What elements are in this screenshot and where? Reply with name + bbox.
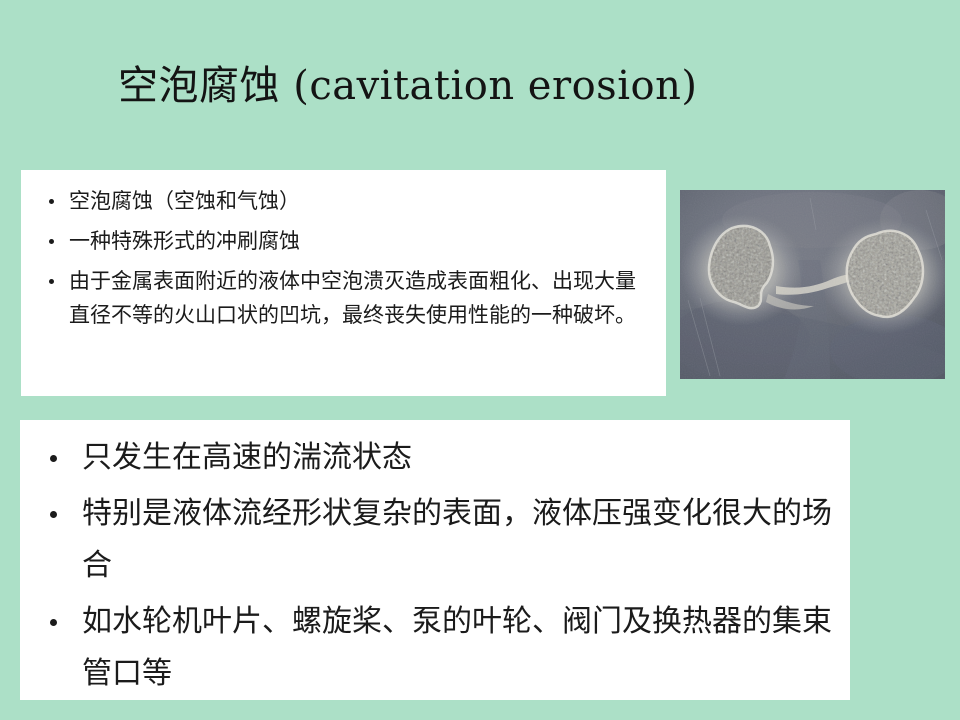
bullet-list-lower: 只发生在高速的湍流状态 特别是液体流经形状复杂的表面，液体压强变化很大的场合 如… xyxy=(34,432,834,700)
list-item: 特别是液体流经形状复杂的表面，液体压强变化很大的场合 xyxy=(34,488,834,592)
content-box-lower: 只发生在高速的湍流状态 特别是液体流经形状复杂的表面，液体压强变化很大的场合 如… xyxy=(20,420,850,700)
list-item: 由于金属表面附近的液体中空泡溃灭造成表面粗化、出现大量直径不等的火山口状的凹坑，… xyxy=(35,264,652,332)
content-box-upper: 空泡腐蚀（空蚀和气蚀） 一种特殊形式的冲刷腐蚀 由于金属表面附近的液体中空泡溃灭… xyxy=(21,170,666,396)
page-title: 空泡腐蚀 (cavitation erosion) xyxy=(118,62,697,110)
list-item: 一种特殊形式的冲刷腐蚀 xyxy=(35,224,652,258)
list-item: 只发生在高速的湍流状态 xyxy=(34,432,834,484)
list-item: 如水轮机叶片、螺旋桨、泵的叶轮、阀门及换热器的集束管口等 xyxy=(34,596,834,700)
list-item: 空泡腐蚀（空蚀和气蚀） xyxy=(35,184,652,218)
bullet-list-upper: 空泡腐蚀（空蚀和气蚀） 一种特殊形式的冲刷腐蚀 由于金属表面附近的液体中空泡溃灭… xyxy=(35,184,652,332)
erosion-photo-graphic xyxy=(680,190,945,379)
cavitation-erosion-photo xyxy=(680,190,945,379)
slide-canvas: 空泡腐蚀 (cavitation erosion) 空泡腐蚀（空蚀和气蚀） 一种… xyxy=(0,0,960,720)
